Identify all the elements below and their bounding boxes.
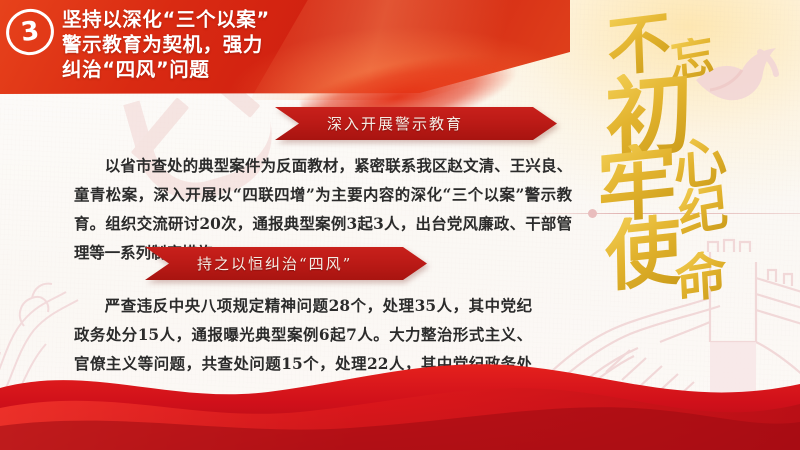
section-number-badge: 3 xyxy=(6,9,54,55)
dove-icon xyxy=(690,40,786,110)
section-banner-2: 持之以恒纠治“四风” xyxy=(145,247,427,280)
section-banner-1: 深入开展警示教育 xyxy=(275,107,557,140)
calligraphy-char-5: 牢 xyxy=(597,140,678,229)
slide-canvas: 3 坚持以深化“三个以案” 警示教育为契机，强力 纠治“四风”问题 不 忘 初 … xyxy=(0,0,800,450)
section-banner-2-label: 持之以恒纠治“四风” xyxy=(197,253,352,274)
title-line-2: 警示教育为契机，强力 xyxy=(62,32,442,57)
calligraphy-char-4: 心 xyxy=(672,132,728,195)
badge-number: 3 xyxy=(3,6,56,58)
title-line-3: 纠治“四风”问题 xyxy=(62,57,442,82)
decorative-dot xyxy=(588,209,597,218)
section-banner-1-label: 深入开展警示教育 xyxy=(327,113,463,134)
page-title: 坚持以深化“三个以案” 警示教育为契机，强力 纠治“四风”问题 xyxy=(62,7,442,82)
header-banner: 3 坚持以深化“三个以案” 警示教育为契机，强力 纠治“四风”问题 xyxy=(0,0,600,100)
title-line-1: 坚持以深化“三个以案” xyxy=(62,7,442,32)
bottom-red-ribbon xyxy=(0,330,800,450)
